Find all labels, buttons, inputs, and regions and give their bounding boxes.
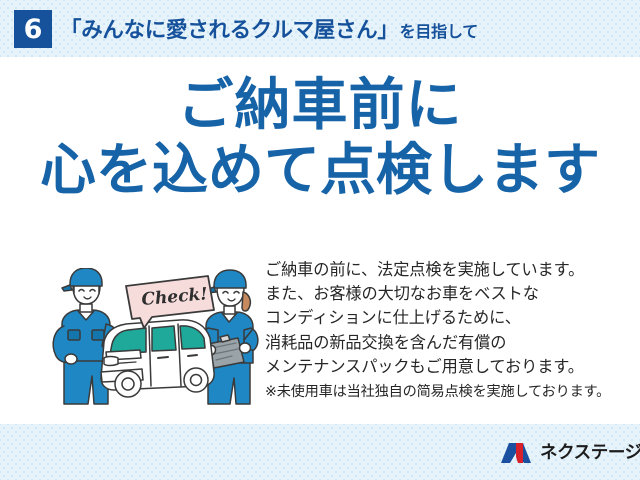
header-title-suffix: を目指して [399, 18, 479, 42]
brand-logo: ネクステージ [500, 440, 640, 466]
headline-line-1: ご納車前に [0, 76, 640, 133]
promo-slide: 6 「みんなに愛されるクルマ屋さん」 を目指して ご納車前に 心を込めて点検しま… [0, 0, 640, 480]
brand-logo-text: ネクステージ [540, 444, 640, 462]
section-number-label: 6 [24, 16, 43, 43]
body-copy-line: 消耗品の新品交換を含んだ有償の [265, 331, 631, 355]
body-copy-note: ※未使用車は当社独自の简易点検を実施しております。 [265, 381, 631, 403]
headline: ご納車前に 心を込めて点検します [0, 76, 640, 198]
body-copy-line: ご納車の前に、法定点検を実施しています。 [265, 258, 631, 282]
headline-line-2: 心を込めて点検します [0, 141, 640, 198]
header-title: 「みんなに愛されるクルマ屋さん」 を目指して [60, 13, 478, 45]
section-number-badge: 6 [14, 10, 52, 48]
header-title-quoted: 「みんなに愛されるクルマ屋さん」 [60, 13, 399, 44]
nextage-n-mark-icon [500, 441, 534, 465]
body-copy-line: また、お客様の大切なお車をベストな [265, 282, 631, 306]
van [101, 320, 214, 397]
body-copy: ご納車の前に、法定点検を実施しています。 また、お客様の大切なお車をベストな コ… [265, 258, 631, 403]
body-copy-line: コンディションに仕上げるために、 [265, 306, 631, 330]
mechanics-inspection-illustration: Check! [48, 268, 264, 408]
body-copy-line: メンテナンスパックもご用意しております。 [265, 355, 631, 379]
illustration-svg: Check! [48, 268, 264, 408]
